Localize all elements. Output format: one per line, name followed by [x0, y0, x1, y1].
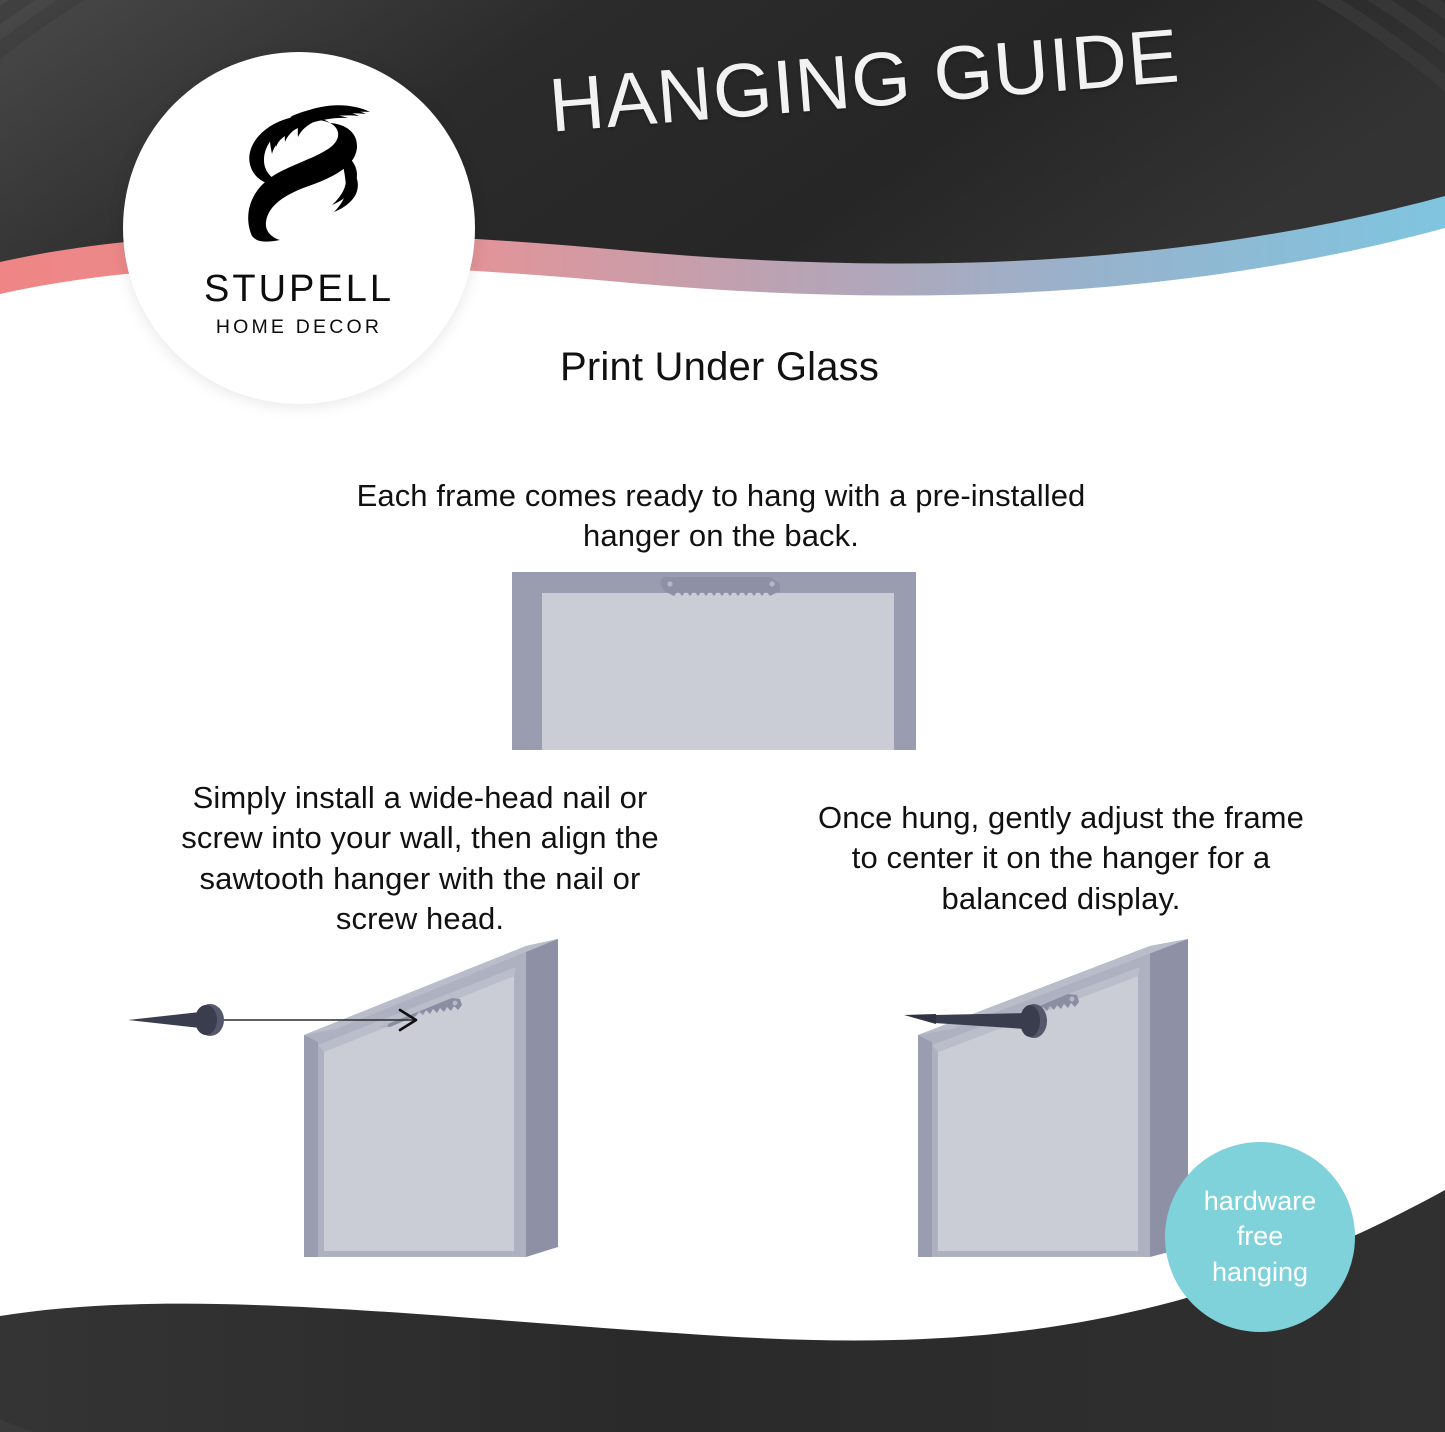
badge-line-2: free [1237, 1219, 1284, 1254]
brand-name: STUPELL [204, 270, 394, 308]
stupell-swoosh-logo-icon [214, 90, 384, 258]
step-right-instruction-text: Once hung, gently adjust the frame to ce… [808, 798, 1314, 919]
hanging-guide-page: STUPELL HOME DECOR HANGING GUIDE Print U… [0, 0, 1445, 1432]
frame-3d-with-nail-illustration [128, 925, 580, 1267]
hardware-free-hanging-badge: hardware free hanging [1165, 1142, 1355, 1332]
page-title: HANGING GUIDE [546, 7, 1251, 150]
badge-line-3: hanging [1212, 1255, 1308, 1290]
badge-line-1: hardware [1204, 1184, 1317, 1219]
intro-instruction-text: Each frame comes ready to hang with a pr… [330, 476, 1112, 557]
brand-tagline: HOME DECOR [216, 318, 382, 338]
brand-logo-badge: STUPELL HOME DECOR [123, 52, 475, 404]
nail-icon [128, 1004, 224, 1036]
product-subtitle: Print Under Glass [560, 345, 879, 390]
step-left-instruction-text: Simply install a wide-head nail or screw… [155, 778, 685, 939]
frame-back-view-illustration [508, 560, 920, 750]
